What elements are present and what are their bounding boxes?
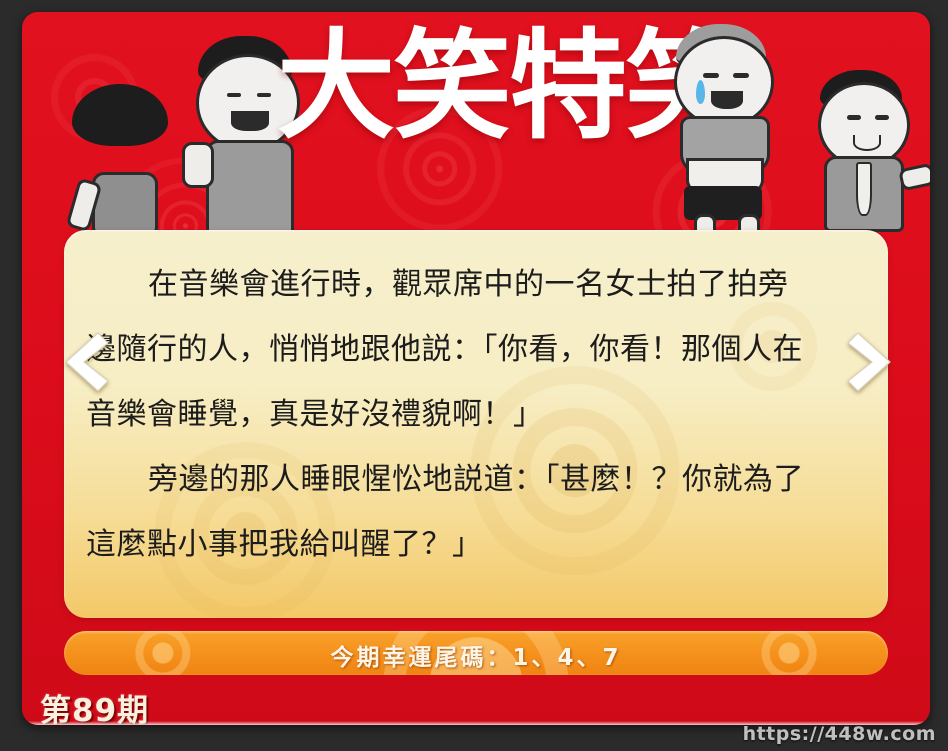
joke-paragraph-1: 在音樂會進行時，觀眾席中的一名女士拍了拍旁 邊隨行的人，悄悄地跟他説：「你看，你…	[86, 252, 870, 447]
character-bowl-cut-kid	[66, 84, 186, 229]
next-joke-button[interactable]	[848, 331, 892, 393]
torso-shape	[92, 172, 158, 234]
necktie-shape	[856, 162, 872, 216]
chevron-right-icon	[848, 331, 892, 393]
chevron-left-icon	[64, 331, 108, 393]
issue-number-badge: 第89期	[40, 685, 149, 725]
joke-line: 旁邊的那人睡眼惺忪地説道：「甚麼！？你就為了	[86, 447, 870, 512]
previous-joke-button[interactable]	[64, 331, 108, 393]
joke-paragraph-2: 旁邊的那人睡眼惺忪地説道：「甚麼！？你就為了 這麼點小事把我給叫醒了？」	[86, 447, 870, 577]
mouth-shape	[231, 111, 269, 131]
joke-text-block: 在音樂會進行時，觀眾席中的一名女士拍了拍旁 邊隨行的人，悄悄地跟他説：「你看，你…	[86, 252, 870, 577]
lucky-number-text: 今期幸運尾碼：1、4、7	[64, 638, 888, 672]
card-header: 大笑特笑	[22, 12, 930, 232]
mouth-shape	[853, 135, 881, 151]
hand-shape	[182, 142, 214, 188]
eye-right	[733, 73, 749, 78]
joke-line: 音樂會睡覺，真是好沒禮貌啊！」	[86, 382, 870, 447]
lucky-number-bar: 今期幸運尾碼：1、4、7	[64, 631, 888, 675]
joke-content-panel: 在音樂會進行時，觀眾席中的一名女士拍了拍旁 邊隨行的人，悄悄地跟他説：「你看，你…	[64, 230, 888, 618]
joke-line: 邊隨行的人，悄悄地跟他説：「你看，你看！那個人在	[86, 317, 870, 382]
eye-left	[703, 73, 719, 78]
mouth-shape	[113, 157, 139, 171]
eye-left	[847, 115, 861, 120]
joke-card: 大笑特笑	[22, 12, 930, 725]
screenshot-stage: 大笑特笑	[0, 0, 948, 751]
eye-left	[227, 93, 241, 97]
hair-shape	[72, 84, 168, 146]
character-crying-fat-man	[662, 24, 792, 234]
site-watermark: https://448w.com	[743, 723, 936, 745]
head-shape	[674, 36, 774, 128]
page-title: 大笑特笑	[277, 26, 677, 146]
eye-right	[875, 115, 889, 120]
eye-right	[257, 93, 271, 97]
joke-line: 在音樂會進行時，觀眾席中的一名女士拍了拍旁	[86, 252, 870, 317]
mouth-shape	[711, 91, 743, 109]
character-running-man	[800, 70, 930, 230]
tear-drop-icon	[696, 80, 705, 104]
joke-line: 這麼點小事把我給叫醒了？」	[86, 512, 870, 577]
